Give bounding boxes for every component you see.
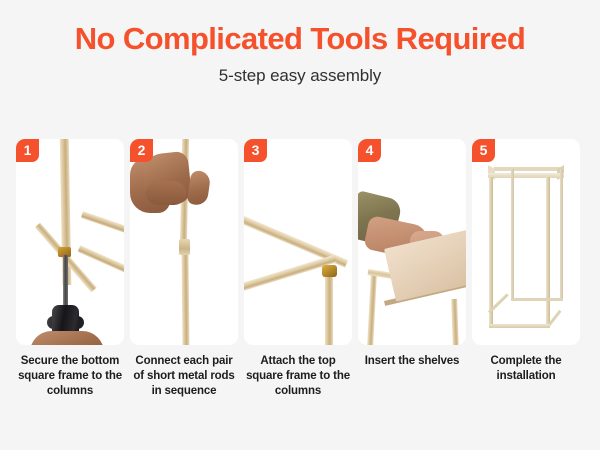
header: No Complicated Tools Required 5-step eas…: [0, 0, 600, 87]
top-frame-front-rail: [488, 173, 564, 178]
step-1: 1 Secure the bottom square frame to the …: [16, 139, 124, 399]
step-2-caption: Connect each pair of short metal rods in…: [130, 354, 238, 399]
bottom-frame-front-rail: [489, 324, 550, 328]
metal-column: [325, 271, 333, 345]
finished-frame: [486, 163, 566, 339]
frame-leg-back-left: [511, 169, 514, 301]
frame-leg-left: [367, 271, 377, 345]
frame-leg-back-right: [560, 169, 563, 301]
step-2: 2 Connect each pair of short metal rods …: [130, 139, 238, 399]
page-title: No Complicated Tools Required: [0, 20, 600, 58]
screwdriver-shaft: [63, 255, 68, 309]
hand: [30, 331, 104, 345]
hand-knuckles: [187, 170, 212, 206]
hand-fingers: [146, 181, 186, 205]
top-frame-back-rail: [494, 167, 560, 171]
metal-rod-lower: [181, 245, 189, 345]
step-3-card[interactable]: 3: [244, 139, 352, 345]
page-subtitle: 5-step easy assembly: [0, 65, 600, 87]
step-3-number-badge: 3: [244, 139, 267, 162]
steps-row: 1 Secure the bottom square frame to the …: [16, 139, 584, 399]
step-5-number-badge: 5: [472, 139, 495, 162]
step-5-card[interactable]: 5: [472, 139, 580, 345]
frame-leg-right: [451, 299, 459, 345]
frame-leg-front-left: [489, 177, 493, 327]
assembly-instructions-page: No Complicated Tools Required 5-step eas…: [0, 0, 600, 450]
step-3-illustration: [244, 139, 352, 345]
step-1-caption: Secure the bottom square frame to the co…: [16, 354, 124, 399]
step-1-number-badge: 1: [16, 139, 39, 162]
step-4-illustration: [358, 139, 466, 345]
step-1-card[interactable]: 1: [16, 139, 124, 345]
step-4: 4 Insert the shelves: [358, 139, 466, 399]
step-5: 5: [472, 139, 580, 399]
step-2-illustration: [130, 139, 238, 345]
rod-connector: [179, 239, 190, 255]
step-4-number-badge: 4: [358, 139, 381, 162]
metal-rod-diagonal-upper: [81, 211, 124, 249]
step-2-number-badge: 2: [130, 139, 153, 162]
step-3: 3 Attach the top square frame to the col…: [244, 139, 352, 399]
step-1-illustration: [16, 139, 124, 345]
step-5-illustration: [472, 139, 580, 345]
step-4-card[interactable]: 4: [358, 139, 466, 345]
step-4-caption: Insert the shelves: [358, 354, 466, 369]
step-3-caption: Attach the top square frame to the colum…: [244, 354, 352, 399]
step-5-caption: Complete the installation: [472, 354, 580, 384]
bottom-frame-back-rail: [511, 298, 563, 301]
brass-corner-connector: [322, 265, 337, 277]
step-2-card[interactable]: 2: [130, 139, 238, 345]
frame-leg-front-right: [546, 177, 550, 327]
